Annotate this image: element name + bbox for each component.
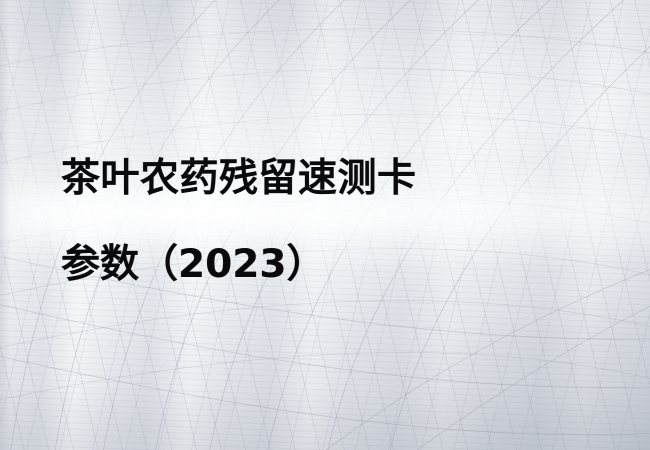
title-line-1: 茶叶农药残留速测卡	[61, 136, 621, 222]
title-banner: 茶叶农药残留速测卡 参数（2023）	[0, 0, 650, 450]
page-title: 茶叶农药残留速测卡 参数（2023）	[61, 136, 621, 308]
title-line-2: 参数（2023）	[61, 222, 621, 308]
